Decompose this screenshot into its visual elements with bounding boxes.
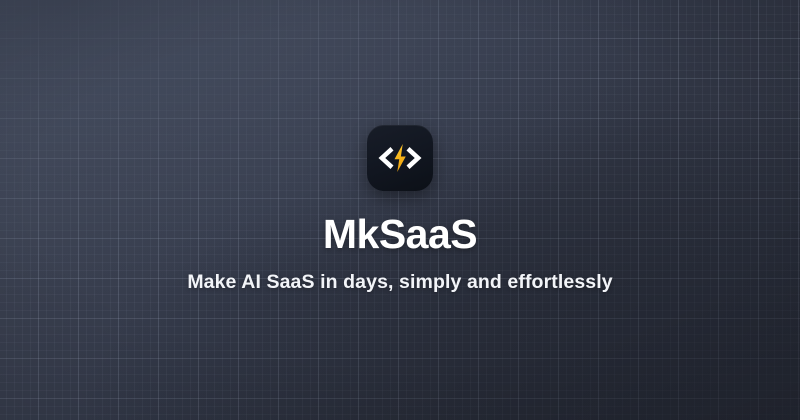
left-bracket-icon [379,147,394,169]
page-subtitle: Make AI SaaS in days, simply and effortl… [187,270,612,295]
code-brackets-lightning-bolt-logo [367,125,433,191]
page-title: MkSaaS [323,213,477,256]
card-content: MkSaaS Make AI SaaS in days, simply and … [0,0,800,420]
og-card: MkSaaS Make AI SaaS in days, simply and … [0,0,800,420]
lightning-bolt-icon [395,144,406,172]
right-bracket-icon [407,147,422,169]
